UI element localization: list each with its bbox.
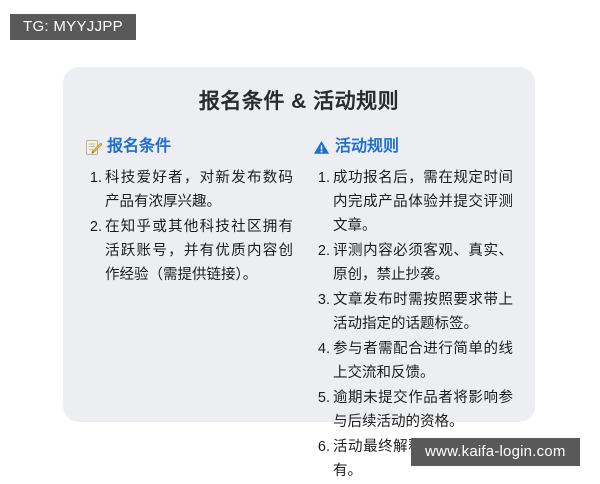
- list-item-number: 2.: [85, 215, 102, 239]
- rules-card: 报名条件 & 活动规则 报名条件 1.: [63, 67, 535, 422]
- list-item-text: 文章发布时需按照要求带上活动指定的话题标签。: [333, 288, 513, 336]
- list-item-number: 2.: [313, 239, 330, 263]
- list-item-number: 1.: [313, 166, 330, 190]
- rules-heading: 活动规则: [313, 137, 513, 157]
- two-column-layout: 报名条件 1. 科技爱好者，对新发布数码产品有浓厚兴趣。 2. 在知乎或其他科技…: [85, 137, 513, 484]
- list-item-text: 评测内容必须客观、真实、原创，禁止抄袭。: [333, 239, 513, 287]
- list-item-text: 参与者需配合进行简单的线上交流和反馈。: [333, 337, 513, 385]
- list-item: 3. 文章发布时需按照要求带上活动指定的话题标签。: [313, 288, 513, 336]
- list-item: 1. 科技爱好者，对新发布数码产品有浓厚兴趣。: [85, 166, 293, 214]
- telegram-handle-badge: TG: MYYJJPP: [10, 14, 136, 40]
- requirements-heading: 报名条件: [85, 137, 293, 157]
- list-item: 1. 成功报名后，需在规定时间内完成产品体验并提交评测文章。: [313, 166, 513, 238]
- requirements-heading-label: 报名条件: [107, 137, 171, 157]
- list-item-text: 逾期未提交作品者将影响参与后续活动的资格。: [333, 386, 513, 434]
- rules-heading-label: 活动规则: [335, 137, 399, 157]
- list-item-text: 在知乎或其他科技社区拥有活跃账号，并有优质内容创作经验（需提供链接）。: [105, 215, 293, 287]
- list-item-number: 3.: [313, 288, 330, 312]
- rules-column: 活动规则 1. 成功报名后，需在规定时间内完成产品体验并提交评测文章。 2. 评…: [313, 137, 513, 484]
- list-item: 4. 参与者需配合进行简单的线上交流和反馈。: [313, 337, 513, 385]
- requirements-column: 报名条件 1. 科技爱好者，对新发布数码产品有浓厚兴趣。 2. 在知乎或其他科技…: [85, 137, 293, 484]
- list-item: 2. 在知乎或其他科技社区拥有活跃账号，并有优质内容创作经验（需提供链接）。: [85, 215, 293, 287]
- memo-icon: [85, 139, 102, 156]
- rules-list: 1. 成功报名后，需在规定时间内完成产品体验并提交评测文章。 2. 评测内容必须…: [313, 166, 513, 483]
- warning-triangle-icon: [313, 139, 330, 156]
- list-item-number: 1.: [85, 166, 102, 190]
- list-item-number: 4.: [313, 337, 330, 361]
- page-title: 报名条件 & 活动规则: [85, 87, 513, 117]
- list-item-text: 科技爱好者，对新发布数码产品有浓厚兴趣。: [105, 166, 293, 214]
- list-item-number: 5.: [313, 386, 330, 410]
- list-item: 5. 逾期未提交作品者将影响参与后续活动的资格。: [313, 386, 513, 434]
- requirements-list: 1. 科技爱好者，对新发布数码产品有浓厚兴趣。 2. 在知乎或其他科技社区拥有活…: [85, 166, 293, 287]
- list-item-number: 6.: [313, 435, 330, 459]
- site-watermark: www.kaifa-login.com: [411, 438, 580, 466]
- list-item-text: 成功报名后，需在规定时间内完成产品体验并提交评测文章。: [333, 166, 513, 238]
- list-item: 2. 评测内容必须客观、真实、原创，禁止抄袭。: [313, 239, 513, 287]
